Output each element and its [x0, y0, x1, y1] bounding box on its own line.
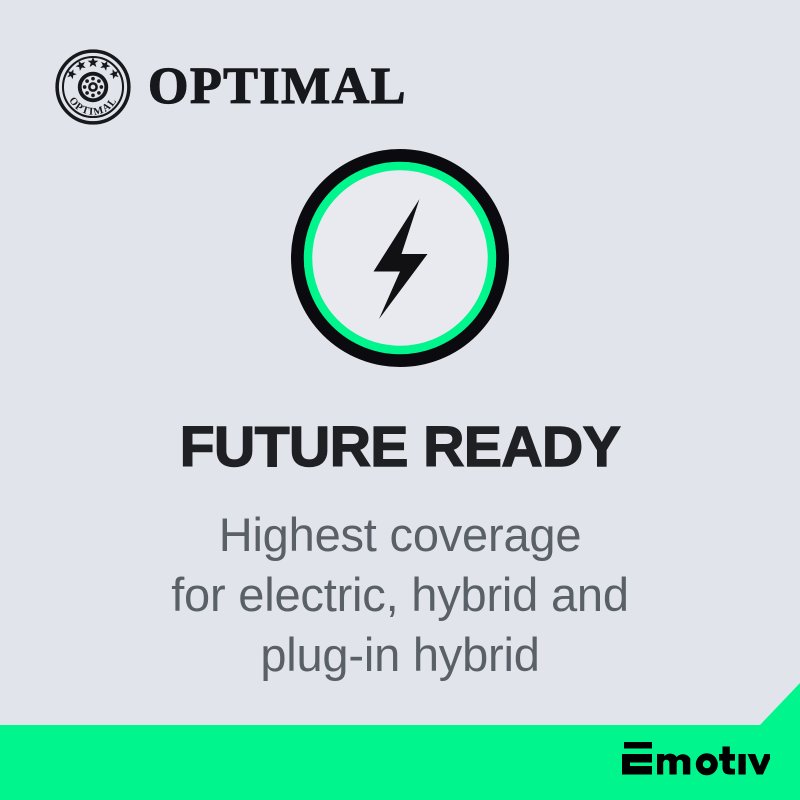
subcopy-line-2: for electric, hybrid and [0, 565, 800, 625]
subcopy-line-1: Highest coverage [0, 505, 800, 565]
lightning-bolt-in-circle-icon [291, 149, 509, 367]
page-title: FUTURE READY [0, 419, 800, 476]
subcopy-line-3: plug-in hybrid [0, 625, 800, 685]
brand-wordmark: OPTIMAL [148, 61, 407, 113]
emotive-logo [622, 740, 770, 782]
footer-banner [0, 680, 800, 800]
optimal-bearing-badge-icon: OPTIMAL [54, 48, 132, 126]
subcopy-block: Highest coverage for electric, hybrid an… [0, 505, 800, 685]
brand-lockup: OPTIMAL OPTIMAL [54, 48, 407, 126]
promo-card: OPTIMAL OPTIMAL [0, 0, 800, 800]
